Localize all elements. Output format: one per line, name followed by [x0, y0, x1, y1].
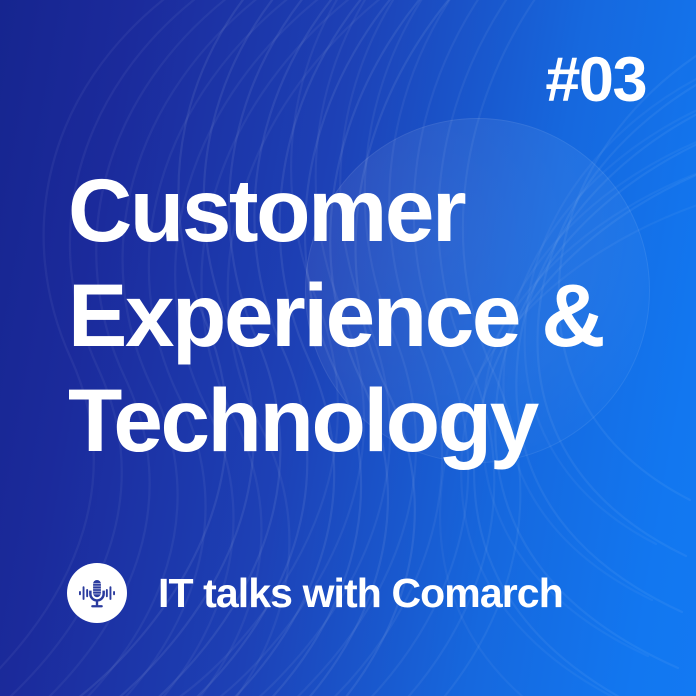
episode-number-badge: #03 [545, 49, 646, 112]
podcast-logo-mark [67, 563, 127, 623]
title-line-3: Technology [68, 368, 668, 473]
brand-row: IT talks with Comarch [67, 563, 563, 623]
title-line-2: Experience & [68, 263, 668, 368]
title-line-1: Customer [68, 158, 668, 263]
podcast-brand-name: IT talks with Comarch [158, 573, 563, 614]
cover-title: Customer Experience & Technology [68, 158, 668, 473]
microphone-soundwave-icon [75, 571, 119, 615]
podcast-cover-art: #03 Customer Experience & Technology [0, 0, 696, 696]
